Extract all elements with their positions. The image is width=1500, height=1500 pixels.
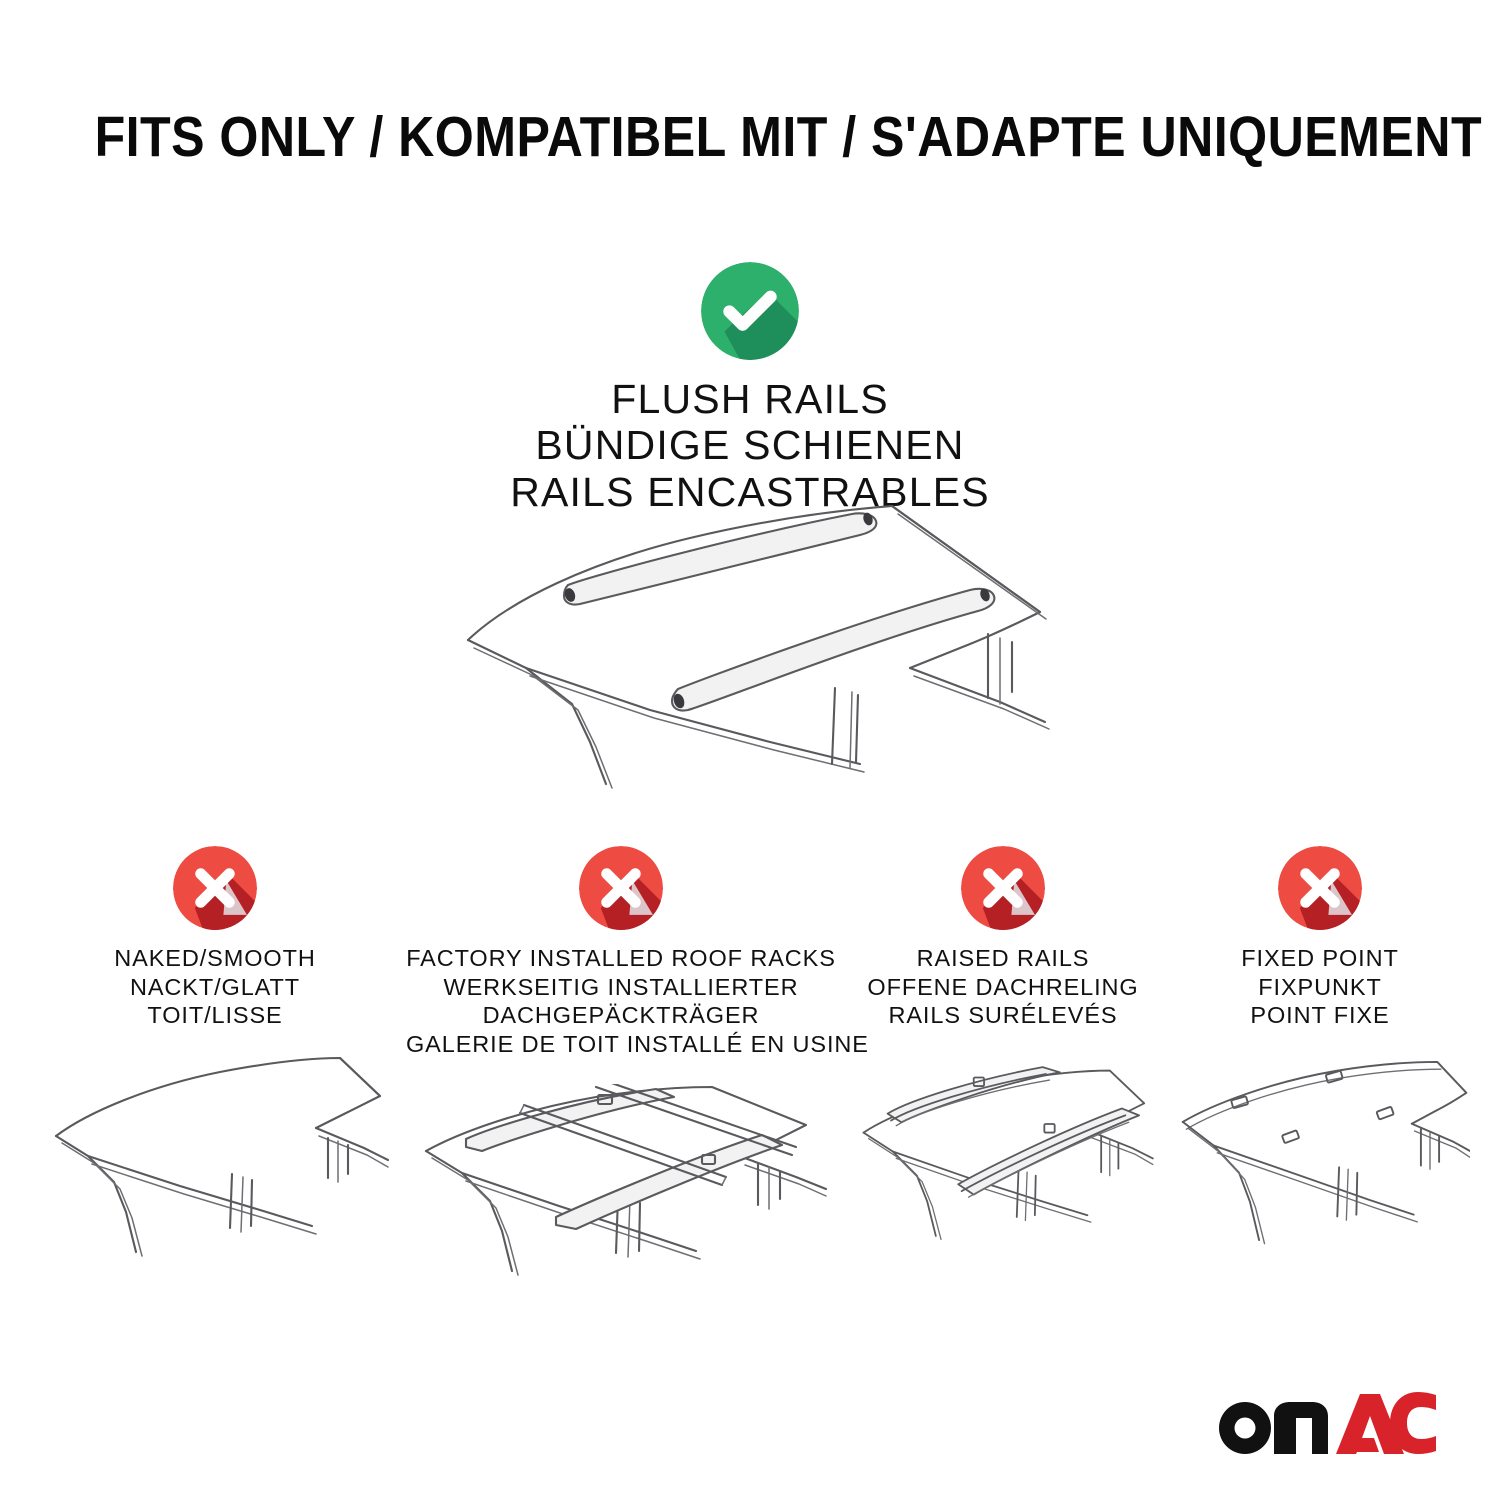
car-roof-raised-rails-illustration (848, 1056, 1158, 1266)
incompatible-label-en: FIXED POINT (1170, 944, 1470, 973)
incompatible-labels: NAKED/SMOOTH NACKT/GLATT TOIT/LISSE (40, 944, 390, 1030)
incompatible-labels: FACTORY INSTALLED ROOF RACKS WERKSEITIG … (406, 944, 836, 1059)
logo-letter-m (1274, 1402, 1328, 1454)
compatibility-infographic: FITS ONLY / KOMPATIBEL MIT / S'ADAPTE UN… (0, 0, 1500, 1500)
incompatible-label-fr: TOIT/LISSE (40, 1001, 390, 1030)
car-roof-fixed-point-illustration (1170, 1056, 1470, 1266)
page-title-text: FITS ONLY / KOMPATIBEL MIT / S'ADAPTE UN… (95, 104, 1482, 170)
incompatible-label-de-2: DACHGEPÄCKTRÄGER (406, 1001, 836, 1030)
incompatible-label-en: FACTORY INSTALLED ROOF RACKS (406, 944, 836, 973)
compatible-label-en: FLUSH RAILS (0, 376, 1500, 422)
incompatible-item-naked-smooth: NAKED/SMOOTH NACKT/GLATT TOIT/LISSE (40, 846, 390, 1030)
incompatible-item-fixed-point: FIXED POINT FIXPUNKT POINT FIXE (1170, 846, 1470, 1030)
incompatible-item-raised-rails: RAISED RAILS OFFENE DACHRELING RAILS SUR… (848, 846, 1158, 1030)
page-title: FITS ONLY / KOMPATIBEL MIT / S'ADAPTE UN… (0, 104, 1500, 170)
incompatible-label-fr: RAILS SURÉLEVÉS (848, 1001, 1158, 1030)
incompatible-labels: FIXED POINT FIXPUNKT POINT FIXE (1170, 944, 1470, 1030)
incompatible-label-en: NAKED/SMOOTH (40, 944, 390, 973)
incompatible-label-de: FIXPUNKT (1170, 973, 1470, 1002)
compatible-section: FLUSH RAILS BÜNDIGE SCHIENEN RAILS ENCAS… (0, 262, 1500, 515)
x-circle-icon (1278, 846, 1362, 930)
incompatible-label-en: RAISED RAILS (848, 944, 1158, 973)
car-roof-factory-racks-illustration (406, 1084, 836, 1294)
x-circle-icon (579, 846, 663, 930)
incompatible-item-factory-roof-racks: FACTORY INSTALLED ROOF RACKS WERKSEITIG … (406, 846, 836, 1059)
incompatible-labels: RAISED RAILS OFFENE DACHRELING RAILS SUR… (848, 944, 1158, 1030)
incompatible-section: NAKED/SMOOTH NACKT/GLATT TOIT/LISSE (0, 846, 1500, 1266)
car-roof-naked-illustration (40, 1056, 390, 1266)
x-circle-icon (961, 846, 1045, 930)
omac-logo (1212, 1390, 1438, 1458)
car-roof-with-flush-rails-illustration (440, 492, 1060, 792)
incompatible-label-fr: POINT FIXE (1170, 1001, 1470, 1030)
incompatible-label-fr: GALERIE DE TOIT INSTALLÉ EN USINE (406, 1030, 836, 1059)
incompatible-label-de: NACKT/GLATT (40, 973, 390, 1002)
x-circle-icon (173, 846, 257, 930)
check-circle-icon (701, 262, 799, 360)
logo-letter-o (1219, 1402, 1271, 1454)
incompatible-label-de-1: WERKSEITIG INSTALLIERTER (406, 973, 836, 1002)
compatible-label-de: BÜNDIGE SCHIENEN (0, 422, 1500, 468)
incompatible-label-de: OFFENE DACHRELING (848, 973, 1158, 1002)
